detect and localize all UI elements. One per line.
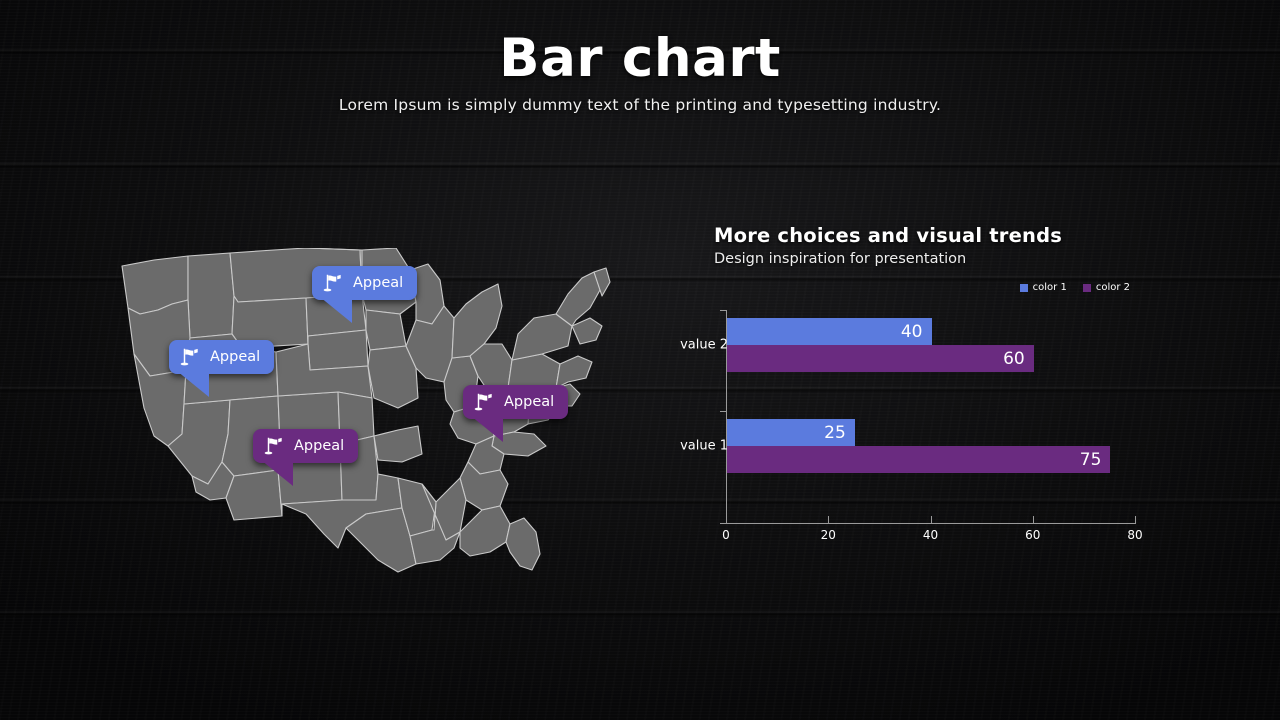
chart-plot-area: 0204060804060value 22575value 1 <box>726 310 1150 540</box>
x-axis-tick-label: 0 <box>722 528 730 542</box>
page-subtitle: Lorem Ipsum is simply dummy text of the … <box>0 96 1280 114</box>
x-axis-tick-label: 60 <box>1025 528 1040 542</box>
map-marker[interactable]: Appeal <box>253 429 358 463</box>
bar-value-label: 60 <box>1003 349 1034 369</box>
y-axis-tick <box>720 310 726 311</box>
page-title: Bar chart <box>0 28 1280 89</box>
marker-tail <box>177 371 209 397</box>
y-axis-tick <box>720 523 726 524</box>
chart-subtitle: Design inspiration for presentation <box>714 251 1154 267</box>
legend-label: color 2 <box>1096 282 1130 293</box>
marker-tail <box>320 297 352 323</box>
bar[interactable]: 40 <box>727 318 932 345</box>
marker-label: Appeal <box>210 349 260 365</box>
map-state <box>506 518 540 570</box>
x-axis-tick <box>1135 516 1136 524</box>
y-axis-tick <box>720 411 726 412</box>
marker-tail <box>471 416 503 442</box>
slide-canvas: Bar chart Lorem Ipsum is simply dummy te… <box>0 0 1280 720</box>
chart-legend: color 1color 2 <box>1020 282 1130 293</box>
map-state <box>366 310 406 350</box>
map-state <box>460 506 510 556</box>
legend-label: color 1 <box>1033 282 1067 293</box>
bar-value-label: 40 <box>901 322 932 342</box>
y-axis-category-label: value 1 <box>680 439 728 454</box>
marker-label: Appeal <box>353 275 403 291</box>
flag-icon <box>263 435 285 457</box>
map-marker[interactable]: Appeal <box>312 266 417 300</box>
map-state <box>374 426 422 462</box>
map-marker[interactable]: Appeal <box>463 385 568 419</box>
legend-swatch <box>1020 284 1028 292</box>
x-axis-tick <box>931 516 932 524</box>
map-state <box>512 314 572 360</box>
legend-swatch <box>1083 284 1091 292</box>
bar-chart-panel: More choices and visual trends Design in… <box>714 224 1154 554</box>
bar[interactable]: 25 <box>727 419 855 446</box>
map-state <box>308 330 368 370</box>
legend-item[interactable]: color 1 <box>1020 282 1067 293</box>
x-axis-tick-label: 80 <box>1127 528 1142 542</box>
flag-icon <box>322 272 344 294</box>
x-axis-tick <box>726 516 727 524</box>
map-marker[interactable]: Appeal <box>169 340 274 374</box>
x-axis-tick <box>1033 516 1034 524</box>
bar[interactable]: 75 <box>727 446 1110 473</box>
marker-tail <box>261 460 293 486</box>
chart-title: More choices and visual trends <box>714 224 1154 247</box>
marker-label: Appeal <box>294 438 344 454</box>
map-state <box>556 356 592 388</box>
map-state <box>188 253 234 338</box>
map-state <box>556 272 600 326</box>
bar-value-label: 75 <box>1080 450 1111 470</box>
y-axis-category-label: value 2 <box>680 338 728 353</box>
map-state <box>572 318 602 344</box>
x-axis-tick-label: 40 <box>923 528 938 542</box>
x-axis-tick-label: 20 <box>821 528 836 542</box>
bar[interactable]: 60 <box>727 345 1034 372</box>
marker-label: Appeal <box>504 394 554 410</box>
bar-value-label: 25 <box>824 423 855 443</box>
flag-icon <box>179 346 201 368</box>
x-axis-tick <box>828 516 829 524</box>
flag-icon <box>473 391 495 413</box>
map-panel: Appeal Appeal Appeal <box>110 248 640 578</box>
legend-item[interactable]: color 2 <box>1083 282 1130 293</box>
